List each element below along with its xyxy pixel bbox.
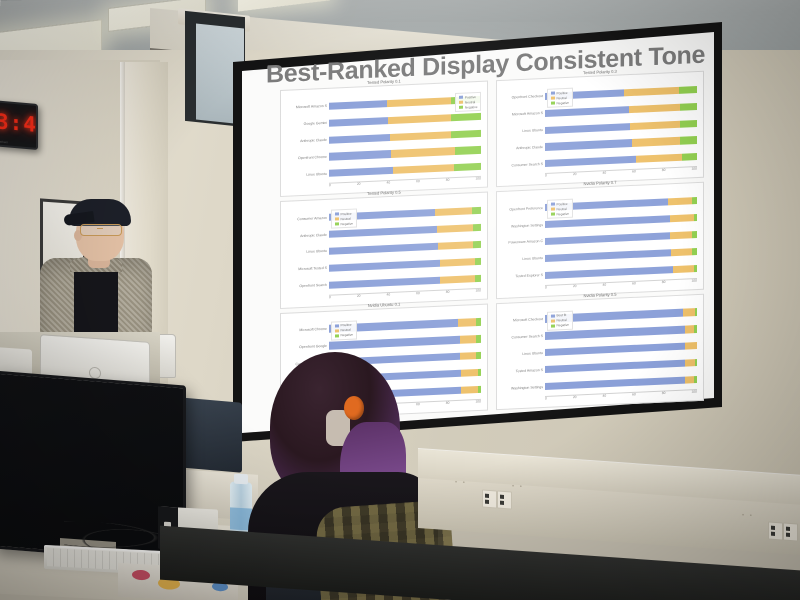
bar-segment-neutral	[670, 231, 693, 239]
bar-segment-neutral	[387, 97, 451, 107]
bar-segment-negative	[695, 359, 697, 366]
headphones-icon	[344, 396, 364, 420]
bar-segment-positive	[545, 232, 670, 245]
legend-label: Positive	[557, 90, 568, 95]
x-axis-tick: 60	[632, 281, 636, 288]
legend-label: Positive	[557, 202, 568, 207]
legend-item: Negative	[551, 100, 570, 105]
bar-segment-negative	[454, 163, 481, 171]
chart-legend: PositiveNeutralNegative	[331, 320, 357, 340]
bar-segment-neutral	[435, 207, 471, 216]
bar-segment-negative	[682, 153, 697, 161]
bar-segment-neutral	[390, 131, 451, 141]
bar-category-label: Openfront Preference	[509, 206, 543, 212]
x-axis-tick: 0	[545, 174, 547, 181]
stacked-bar	[545, 342, 697, 356]
x-axis-tick: 100	[475, 399, 481, 406]
legend-label: Neutral	[341, 328, 351, 332]
legend-label: Negative	[557, 323, 570, 328]
chart-bar-row: Linux Ubuntu	[545, 120, 697, 134]
bar-segment-neutral	[461, 369, 478, 377]
legend-swatch	[551, 314, 556, 317]
bar-segment-negative	[694, 325, 697, 332]
legend-label: Negative	[341, 333, 354, 338]
bar-segment-neutral	[438, 241, 473, 250]
bar-category-label: Anthropic Claude	[300, 232, 327, 237]
legend-label: Neutral	[341, 217, 351, 221]
x-axis-tick: 80	[662, 280, 666, 287]
bar-category-label: Openfront Search	[299, 283, 327, 288]
chart-bar-row: Linux Ubuntu	[329, 241, 481, 255]
digital-wall-clock: 3:47 lathem	[0, 100, 38, 150]
bar-segment-negative	[478, 386, 481, 393]
bar-segment-negative	[692, 231, 697, 238]
paper-graphic	[132, 570, 150, 581]
bar-segment-negative	[476, 318, 481, 325]
bar-category-label: Linux Ubuntu	[306, 172, 327, 177]
chart-legend: PositiveNeutralNegative	[455, 92, 481, 112]
bar-segment-positive	[545, 266, 673, 279]
bar-segment-neutral	[670, 214, 694, 222]
legend-item: Negative	[551, 212, 570, 217]
legend-label: Neutral	[557, 95, 567, 99]
x-axis-tick: 80	[446, 289, 450, 296]
x-axis-tick: 100	[475, 288, 481, 295]
chart-bar-row: Linux Ubuntu	[329, 163, 481, 177]
bar-segment-negative	[473, 241, 481, 249]
legend-label: Positive	[341, 323, 352, 328]
legend-swatch	[459, 101, 464, 104]
x-axis-tick: 60	[632, 392, 636, 399]
bar-segment-negative	[695, 309, 697, 316]
chart-bar-row: Washington Settings	[545, 376, 697, 390]
bar-category-label: Anthropic Claude	[300, 138, 327, 143]
bar-segment-neutral	[460, 352, 477, 360]
bar-segment-negative	[692, 248, 697, 255]
bar-segment-positive	[329, 276, 440, 288]
bar-category-label: Openfront Checkout	[512, 94, 543, 99]
chart-bar-row: Powerware Amazon C	[545, 231, 697, 245]
power-outlet	[768, 521, 783, 540]
x-axis-tick: 60	[416, 291, 420, 298]
legend-swatch	[551, 91, 556, 94]
bar-category-label: Washington Settings	[511, 223, 543, 228]
legend-swatch	[551, 324, 556, 327]
clock-digits: 3:47	[0, 109, 38, 138]
bar-segment-neutral	[391, 147, 455, 157]
x-axis-tick: 40	[602, 394, 606, 401]
bar-segment-negative	[451, 129, 481, 138]
bar-segment-neutral	[671, 248, 692, 256]
bar-segment-positive	[329, 150, 391, 160]
chart-legend: PositiveNeutralNegative	[547, 199, 573, 219]
chart-bar-row: Anthropic Claude	[545, 136, 697, 150]
stacked-bar	[545, 153, 697, 167]
chart-panel: Tested Polarity 0.1Microsoft Amazon SGoo…	[280, 81, 488, 198]
bar-segment-neutral	[458, 319, 476, 327]
x-axis-tick: 100	[691, 278, 697, 285]
bar-segment-positive	[329, 167, 393, 177]
bar-segment-neutral	[685, 342, 697, 350]
bar-segment-positive	[545, 123, 630, 134]
bar-segment-neutral	[460, 335, 477, 343]
presenter-glasses	[80, 224, 122, 236]
chart-bar-row: Google Gemini	[329, 113, 481, 127]
bar-segment-positive	[329, 259, 440, 271]
legend-label: Positive	[465, 95, 476, 100]
x-axis-tick: 100	[475, 177, 481, 184]
bar-category-label: Consumer Amazon	[297, 216, 327, 221]
bar-segment-neutral	[632, 137, 681, 146]
bar-category-label: Linux Ubuntu	[306, 249, 327, 254]
bar-category-label: Microsoft Amazon S	[512, 111, 543, 116]
x-axis-tick: 20	[573, 172, 577, 179]
legend-label: Negative	[557, 212, 570, 217]
chart-panel: Tested Polarity 0.3Openfront CheckoutMic…	[496, 71, 704, 188]
bar-segment-neutral	[685, 359, 696, 367]
x-axis-tick: 20	[357, 182, 361, 189]
stacked-bar	[545, 120, 697, 134]
bar-segment-neutral	[630, 120, 680, 129]
bar-category-label: Microsoft Tested S	[298, 266, 327, 271]
bar-category-label: Openfront Chrome	[298, 155, 327, 160]
bar-segment-neutral	[685, 326, 694, 334]
bar-segment-negative	[451, 113, 481, 122]
stacked-bar	[545, 231, 697, 245]
x-axis-tick: 40	[602, 282, 606, 289]
bar-category-label: Consumer Search S	[511, 334, 543, 339]
bar-category-label: Microsoft Chrome	[299, 327, 327, 332]
bar-segment-negative	[476, 335, 481, 342]
legend-swatch	[551, 96, 556, 99]
classroom-scene: 3:47 lathem Best-Ranked Display Consiste…	[0, 0, 800, 600]
legend-swatch	[551, 208, 556, 211]
legend-label: Neutral	[465, 100, 475, 104]
x-axis-tick: 80	[662, 391, 666, 398]
bar-category-label: Powerware Amazon C	[508, 240, 543, 246]
legend-swatch	[551, 319, 556, 322]
legend-swatch	[335, 329, 340, 332]
stacked-bar	[329, 146, 481, 160]
chart-bar-row: Microsoft Tested S	[329, 258, 481, 272]
legend-item: Negative	[551, 323, 570, 328]
stacked-bar	[545, 359, 697, 373]
bar-category-label: Consumer Search S	[511, 162, 543, 167]
bar-segment-positive	[329, 117, 388, 127]
bar-segment-neutral	[388, 114, 450, 124]
power-outlet	[482, 489, 497, 508]
bar-category-label: Linux Ubuntu	[522, 351, 543, 356]
x-axis-tick: 100	[691, 167, 697, 174]
bar-segment-positive	[545, 343, 685, 357]
clock-brand-label: lathem	[0, 140, 8, 145]
bar-segment-negative	[475, 258, 481, 265]
bar-category-label: Google Gemini	[304, 121, 327, 126]
x-axis-tick: 20	[573, 284, 577, 291]
bar-segment-positive	[545, 156, 636, 167]
bar-segment-neutral	[673, 265, 694, 273]
bar-segment-negative	[694, 265, 697, 272]
bar-category-label: Tested Amazon S	[516, 368, 543, 373]
legend-swatch	[551, 101, 556, 104]
legend-label: Negative	[557, 100, 570, 105]
bar-segment-positive	[329, 134, 390, 144]
chart-panel: Nvidia Polarity 0.5Microsoft CheckoutCon…	[496, 293, 704, 410]
chart-bar-row: Tested Explorer S	[545, 265, 697, 279]
stacked-bar	[545, 136, 697, 150]
bar-segment-neutral	[624, 87, 679, 97]
stacked-bar	[329, 241, 481, 255]
chart-legend: PositiveNeutralNegative	[547, 88, 573, 108]
legend-swatch	[551, 203, 556, 206]
bar-segment-negative	[472, 207, 481, 215]
bar-segment-neutral	[685, 376, 694, 384]
bar-category-label: Anthropic Claude	[516, 145, 543, 150]
x-axis-tick: 60	[632, 170, 636, 177]
legend-swatch	[551, 213, 556, 216]
bar-segment-negative	[478, 369, 481, 376]
legend-swatch	[459, 96, 464, 99]
stacked-bar	[545, 265, 697, 279]
chart-legend: PositiveNeutralNegative	[331, 209, 357, 229]
legend-swatch	[335, 223, 340, 226]
raceway-screws: • •	[742, 513, 754, 520]
bar-segment-positive	[545, 249, 671, 262]
legend-swatch	[459, 106, 464, 109]
bar-segment-neutral	[636, 154, 682, 163]
bar-segment-negative	[692, 197, 697, 204]
chart-bar-row: Linux Ubuntu	[545, 248, 697, 262]
bar-category-label: Washington Settings	[511, 385, 543, 390]
chart-legend: Best fitNeutralNegative	[547, 310, 573, 330]
raceway-screws: • •	[455, 480, 467, 487]
legend-label: Negative	[465, 105, 478, 110]
legend-swatch	[335, 218, 340, 221]
bar-segment-negative	[680, 136, 697, 144]
stacked-bar	[545, 376, 697, 390]
chart-panel: Nvidia Polarity 0.7Openfront PreferenceW…	[496, 182, 704, 299]
x-axis-tick: 40	[386, 181, 390, 188]
chart-panel: Tested Polarity 0.5Consumer AmazonAnthro…	[280, 192, 488, 309]
bar-category-label: Tested Explorer S	[515, 273, 543, 278]
bar-segment-neutral	[668, 197, 692, 205]
bar-category-label: Linux Ubuntu	[522, 128, 543, 133]
bar-segment-negative	[679, 86, 697, 94]
chart-bar-row: Openfront Chrome	[329, 146, 481, 160]
bar-segment-negative	[475, 274, 481, 281]
legend-swatch	[335, 324, 340, 327]
x-axis-tick: 0	[545, 396, 547, 403]
legend-swatch	[335, 334, 340, 337]
bar-segment-negative	[694, 214, 697, 221]
stacked-bar	[329, 129, 481, 143]
bar-segment-negative	[694, 376, 697, 383]
power-outlet	[783, 522, 798, 541]
x-axis-tick: 100	[691, 390, 697, 397]
chart-bar-row: Linux Ubuntu	[545, 342, 697, 356]
stacked-bar	[329, 274, 481, 288]
x-axis-tick: 80	[446, 178, 450, 185]
bar-category-label: Linux Ubuntu	[522, 256, 543, 261]
bar-segment-neutral	[440, 258, 475, 267]
x-axis-tick: 40	[386, 292, 390, 299]
bar-segment-negative	[473, 224, 481, 232]
x-axis-tick: 0	[329, 184, 331, 191]
bar-segment-neutral	[629, 103, 681, 113]
bar-category-label: Microsoft Checkout	[513, 317, 543, 322]
bar-segment-positive	[545, 106, 629, 117]
bar-segment-negative	[476, 352, 481, 359]
legend-item: Negative	[335, 222, 354, 227]
bar-segment-positive	[329, 100, 387, 110]
bar-segment-positive	[329, 243, 438, 255]
bar-segment-neutral	[683, 309, 695, 317]
bar-category-label: Openfront Google	[299, 344, 327, 349]
stacked-bar	[329, 163, 481, 177]
legend-swatch	[335, 213, 340, 216]
bar-segment-negative	[680, 103, 697, 111]
bar-category-label: Microsoft Amazon S	[296, 104, 327, 109]
power-outlet	[497, 490, 512, 509]
bar-segment-neutral	[461, 386, 478, 394]
chart-bar-row: Consumer Search S	[545, 153, 697, 167]
bar-segment-positive	[545, 139, 632, 150]
chart-bar-row: Anthropic Claude	[329, 129, 481, 143]
chart-bar-row: Tested Amazon S	[545, 359, 697, 373]
bar-segment-neutral	[393, 164, 454, 174]
stacked-bar	[329, 113, 481, 127]
legend-label: Best fit	[557, 313, 567, 317]
bar-segment-neutral	[437, 224, 473, 233]
bar-segment-negative	[680, 120, 697, 128]
chart-bar-row: Openfront Search	[329, 274, 481, 288]
x-axis-tick: 0	[329, 295, 331, 302]
legend-label: Neutral	[557, 207, 567, 211]
x-axis-tick: 60	[416, 179, 420, 186]
legend-item: Negative	[459, 105, 478, 110]
bar-segment-negative	[455, 146, 481, 154]
bottle-cap	[234, 474, 248, 485]
x-axis-tick: 20	[357, 293, 361, 300]
legend-item: Negative	[335, 333, 354, 338]
raceway-screws: • •	[512, 484, 524, 491]
legend-label: Negative	[341, 222, 354, 227]
legend-label: Neutral	[557, 318, 567, 322]
bar-segment-positive	[545, 360, 685, 374]
legend-label: Positive	[341, 212, 352, 217]
side-monitor	[178, 397, 242, 473]
x-axis-tick: 0	[545, 285, 547, 292]
stacked-bar	[545, 248, 697, 262]
stacked-bar	[329, 258, 481, 272]
x-axis-tick: 80	[662, 168, 666, 175]
bar-segment-positive	[545, 377, 685, 391]
bar-segment-neutral	[440, 275, 475, 284]
x-axis-tick: 20	[573, 395, 577, 402]
x-axis-tick: 40	[602, 171, 606, 178]
